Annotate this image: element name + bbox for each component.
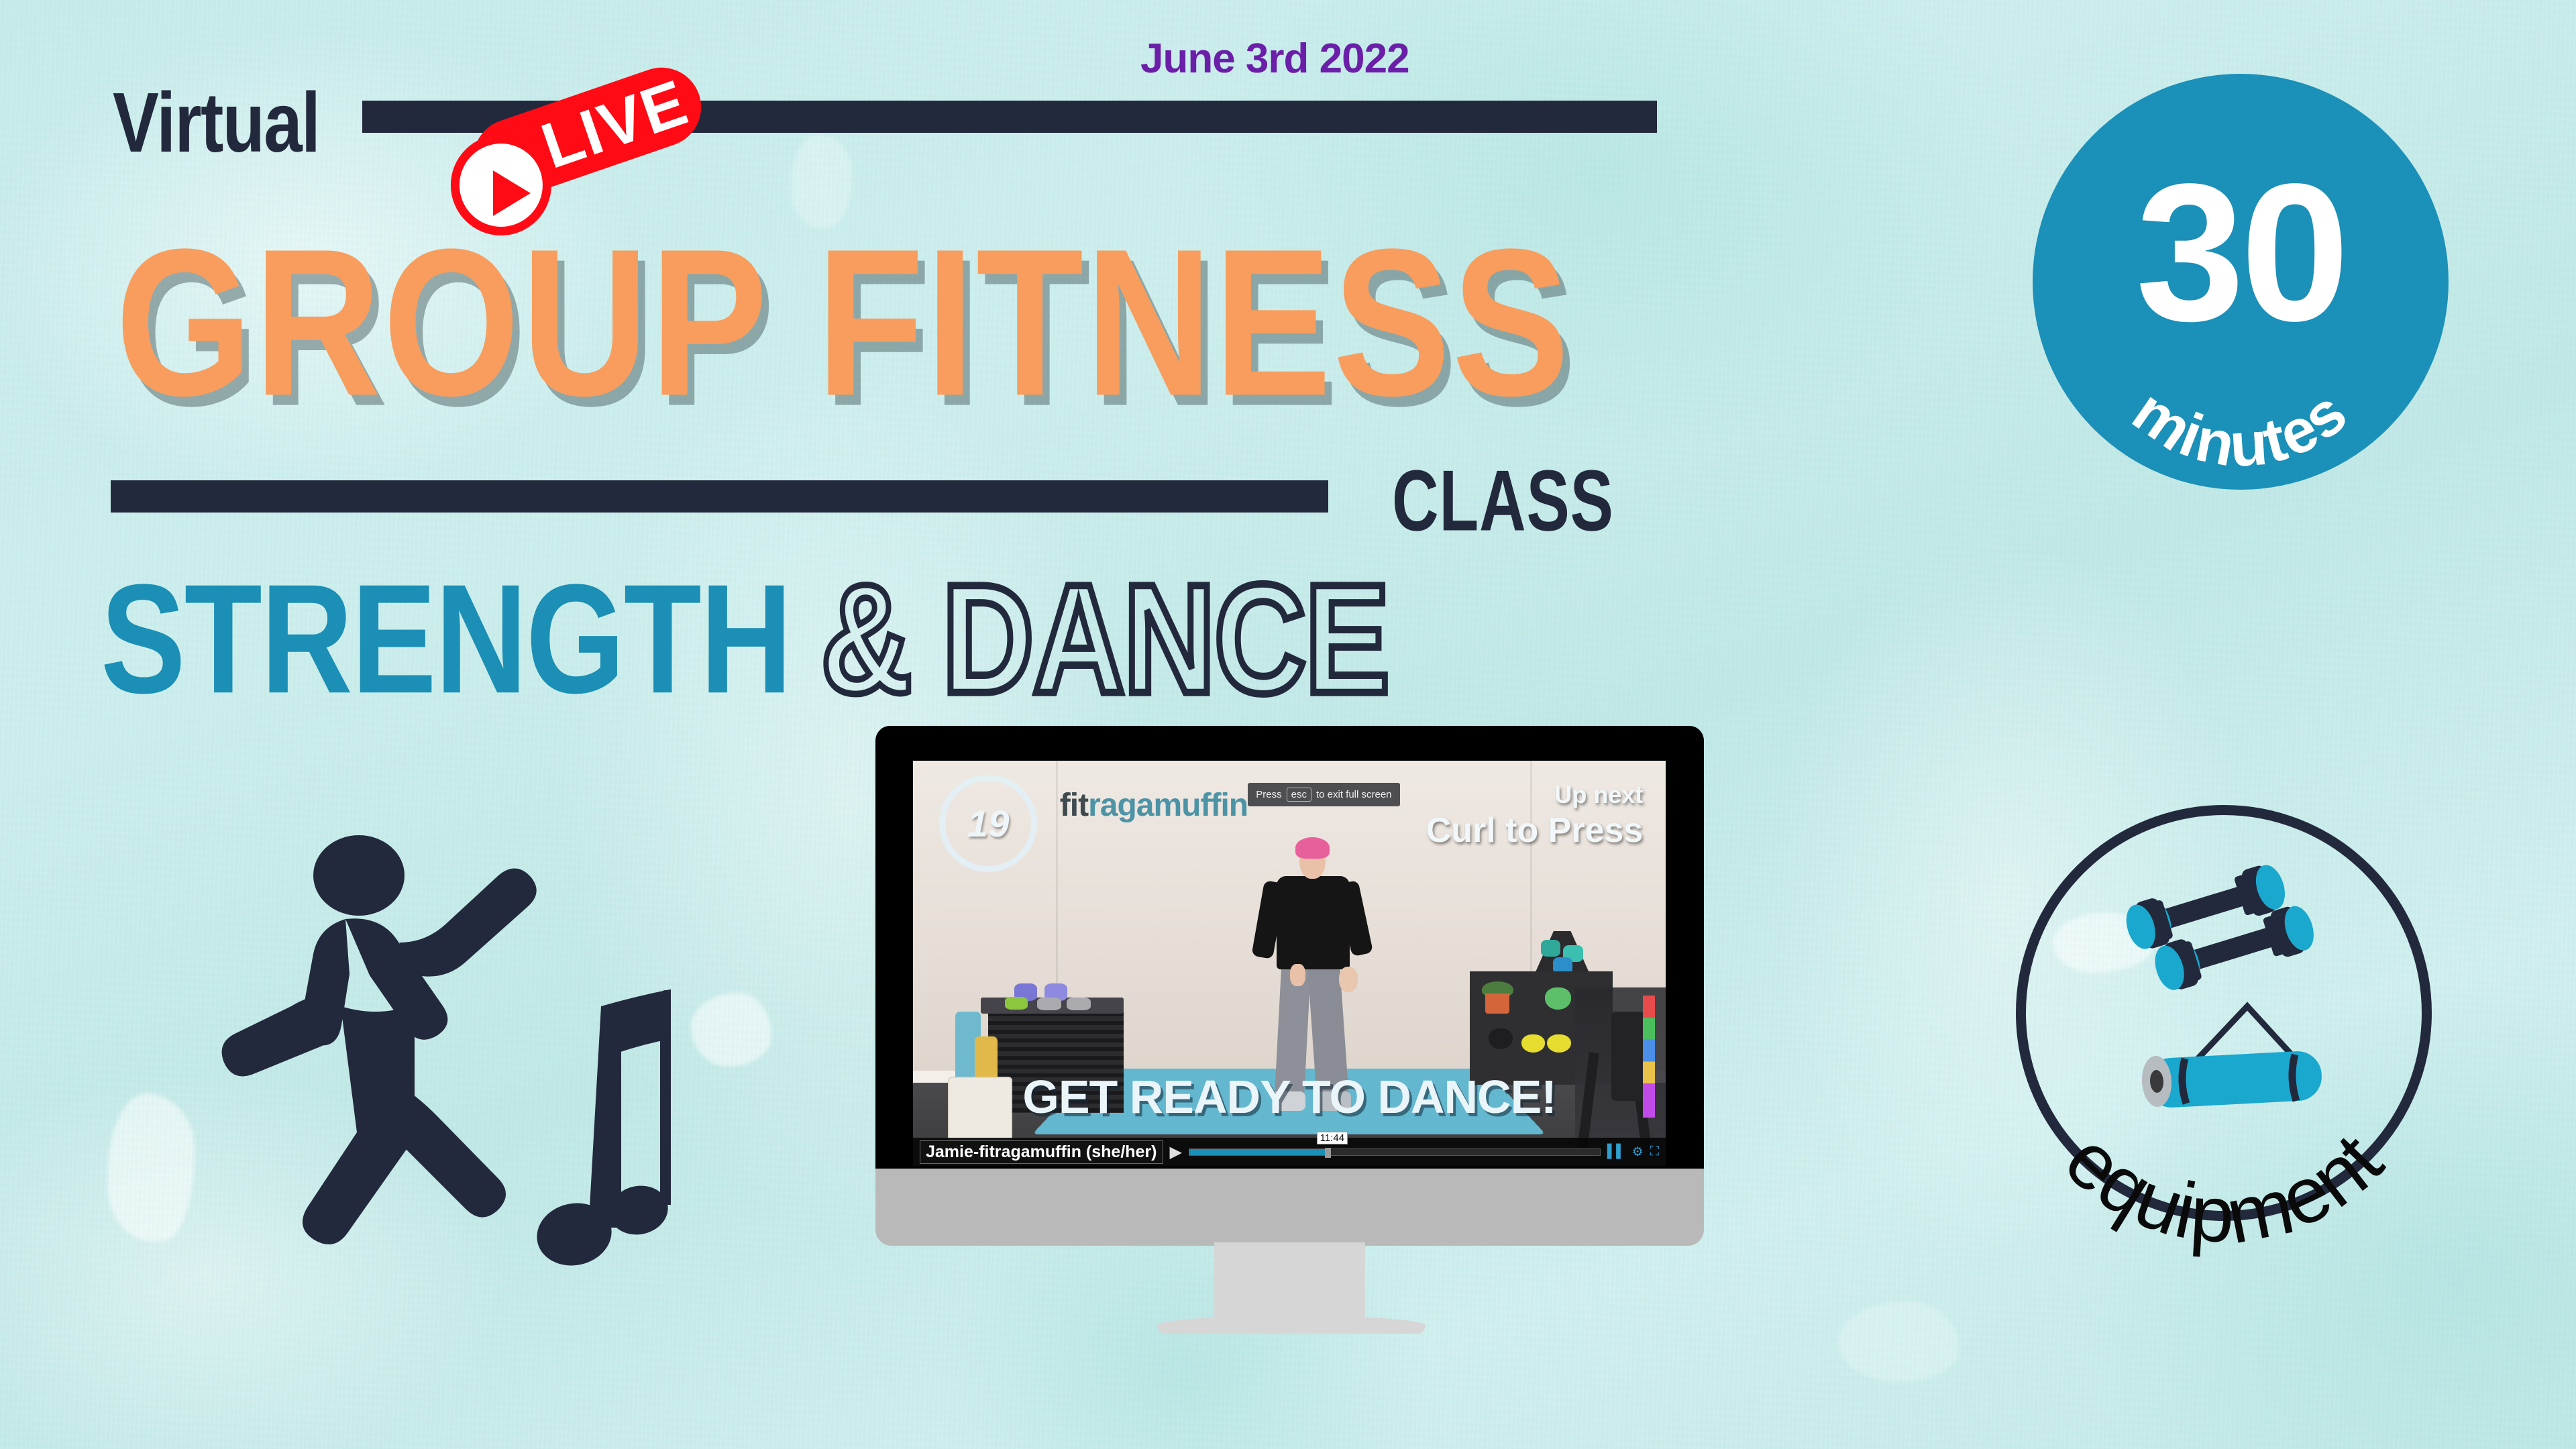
class-label: CLASS	[1392, 451, 1614, 550]
background-blotch	[691, 993, 771, 1067]
plant-pot	[1485, 994, 1509, 1014]
class-title-ampersand: &	[820, 550, 912, 729]
progress-track[interactable]: 11:44	[1189, 1148, 1601, 1156]
page-title: GROUP FITNESS	[115, 201, 1571, 443]
event-date: June 3rd 2022	[1140, 35, 1409, 83]
background-blotch	[107, 1093, 195, 1241]
up-next-panel: Up next Curl to Press	[1426, 781, 1644, 851]
channel-logo: fitragamuffin	[1060, 787, 1248, 824]
fullscreen-hint: Press esc to exit full screen	[1248, 783, 1399, 806]
dumbbell-prop	[1037, 998, 1061, 1010]
video-caption: GET READY TO DANCE!	[913, 1070, 1666, 1124]
up-next-title: Curl to Press	[1426, 810, 1644, 851]
dumbbell-prop	[1067, 998, 1091, 1010]
play-button-icon[interactable]: ▶	[1170, 1142, 1182, 1162]
up-next-label: Up next	[1426, 781, 1644, 809]
duration-unit: minutes	[2121, 376, 2360, 480]
instructor-hand-right	[1339, 967, 1358, 992]
equipment-label: equipment	[2048, 1116, 2400, 1260]
kettlebell	[1545, 987, 1570, 1010]
instructor-hand-left	[1290, 964, 1305, 987]
background-blotch	[1838, 1301, 1959, 1382]
esc-key-glyph: esc	[1287, 788, 1311, 802]
dumbbell-prop	[1541, 940, 1560, 957]
fullscreen-icon[interactable]: ⛶	[1650, 1144, 1659, 1159]
duration-unit-arc: minutes	[2033, 74, 2449, 490]
equipment-label-arc: equipment	[1989, 1006, 2459, 1342]
duration-badge: 30 minutes	[2033, 74, 2449, 490]
elapsed-time-tooltip: 11:44	[1317, 1132, 1348, 1144]
progress-fill	[1189, 1149, 1325, 1155]
dancing-person-icon	[201, 805, 671, 1328]
video-screen[interactable]: 19 fitragamuffin Press esc to exit full …	[913, 761, 1666, 1166]
equipment-badge: equipment	[2016, 805, 2432, 1221]
kicker-virtual: Virtual	[113, 74, 319, 171]
kettlebell	[1489, 1028, 1513, 1049]
monitor-stand-foot	[1157, 1316, 1426, 1334]
fullscreen-hint-prefix: Press	[1256, 789, 1281, 800]
class-title-row: STRENGTH&DANCE	[101, 550, 1389, 696]
instructor-hair	[1295, 837, 1329, 859]
dumbbell-prop	[1005, 997, 1028, 1010]
fullscreen-hint-suffix: to exit full screen	[1316, 789, 1392, 800]
rep-timer-value: 19	[939, 775, 1037, 872]
computer-monitor: 19 fitragamuffin Press esc to exit full …	[875, 726, 1704, 1256]
settings-icon[interactable]: ⚙	[1632, 1144, 1644, 1160]
header-divider-middle	[111, 480, 1328, 513]
kettlebell	[1547, 1034, 1571, 1053]
svg-text:minutes: minutes	[2121, 376, 2360, 480]
volume-icon[interactable]: ▌▌	[1607, 1144, 1625, 1159]
class-title-dance: DANCE	[942, 550, 1389, 729]
video-player-bar[interactable]: Jamie-fitragamuffin (she/her) ▶ 11:44 ▌▌…	[913, 1138, 1666, 1166]
channel-logo-part2: ragamuffin	[1088, 788, 1248, 823]
class-title-strength: STRENGTH	[101, 550, 791, 729]
participant-name: Jamie-fitragamuffin (she/her)	[920, 1140, 1163, 1164]
channel-logo-part1: fit	[1060, 788, 1088, 823]
instructor-torso	[1277, 876, 1350, 970]
monitor-chin	[875, 1169, 1704, 1246]
svg-text:equipment: equipment	[2048, 1116, 2400, 1260]
progress-knob[interactable]	[1325, 1148, 1331, 1158]
